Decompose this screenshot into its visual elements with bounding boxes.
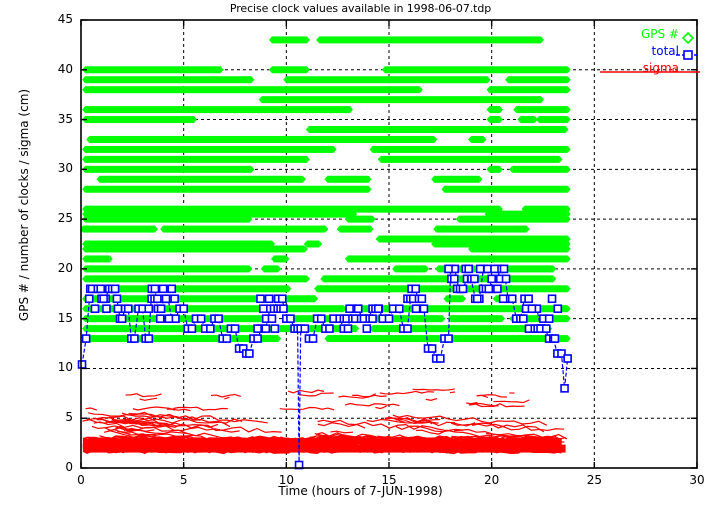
x-tick-label: 25 (574, 473, 614, 487)
y-tick-label: 0 (29, 460, 73, 474)
legend-marker-square (684, 51, 692, 59)
plot-canvas (0, 0, 721, 505)
y-tick-label: 40 (29, 62, 73, 76)
legend-label-total: total (595, 44, 679, 58)
x-tick-label: 30 (677, 473, 717, 487)
x-tick-label: 10 (266, 473, 306, 487)
y-tick-label: 25 (29, 211, 73, 225)
legend-label-gps: GPS # (595, 27, 679, 41)
x-tick-label: 0 (61, 473, 101, 487)
y-tick-label: 20 (29, 261, 73, 275)
x-tick-label: 5 (164, 473, 204, 487)
y-tick-label: 5 (29, 410, 73, 424)
y-tick-label: 35 (29, 112, 73, 126)
y-tick-label: 30 (29, 161, 73, 175)
y-tick-label: 10 (29, 360, 73, 374)
legend-marker-diamond (683, 33, 693, 43)
x-tick-label: 15 (369, 473, 409, 487)
y-tick-label: 15 (29, 311, 73, 325)
y-tick-label: 45 (29, 12, 73, 26)
legend-label-sigma: sigma (595, 61, 679, 75)
chart-figure: Precise clock values available in 1998-0… (0, 0, 721, 505)
x-tick-label: 20 (472, 473, 512, 487)
sigma-series (82, 389, 566, 454)
